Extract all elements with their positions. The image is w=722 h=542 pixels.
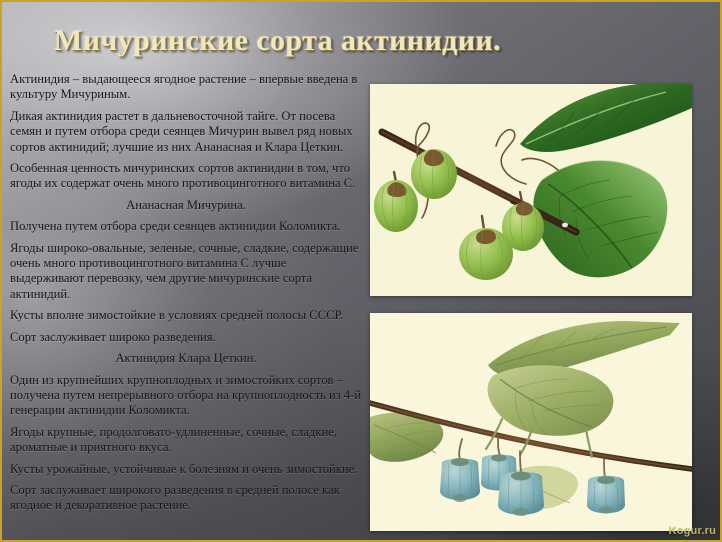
paragraph: Сорт заслуживает широкого разведения в с… — [10, 483, 362, 514]
paragraph: Один из крупнейших крупноплодных и зимос… — [10, 373, 362, 419]
paragraph: Ягоды широко-овальные, зеленые, сочные, … — [10, 241, 362, 303]
berry-branch-drawing — [370, 84, 692, 296]
presentation-slide: Мичуринские сорта актинидии. Актинидия –… — [0, 0, 722, 542]
paragraph: Актинидия – выдающееся ягодное растение … — [10, 72, 362, 103]
watermark: Kogur.ru — [669, 525, 716, 537]
paragraph: Получена путем отбора среди сеянцев акти… — [10, 219, 362, 234]
paragraph: Кусты вполне зимостойкие в условиях сред… — [10, 308, 362, 323]
actinidia-ananasnaya-illustration — [370, 84, 692, 296]
paragraph: Особенная ценность мичуринских сортов ак… — [10, 161, 362, 192]
paragraph: Дикая актинидия растет в дальневосточной… — [10, 109, 362, 155]
actinidia-klara-cetkin-illustration — [370, 313, 692, 531]
paragraph: Ягоды крупные, продолговато-удлиненные, … — [10, 425, 362, 456]
subheading-klara-cetkin: Актинидия Клара Цеткин. — [10, 351, 362, 366]
paragraph: Сорт заслуживает широко разведения. — [10, 330, 362, 345]
subheading-ananasnaya: Ананасная Мичурина. — [10, 198, 362, 213]
paragraph: Кусты урожайные, устойчивые к болезням и… — [10, 462, 362, 477]
body-text-column: Актинидия – выдающееся ягодное растение … — [10, 72, 362, 534]
blue-berry-branch-drawing — [370, 313, 692, 531]
page-title: Мичуринские сорта актинидии. — [54, 24, 694, 58]
